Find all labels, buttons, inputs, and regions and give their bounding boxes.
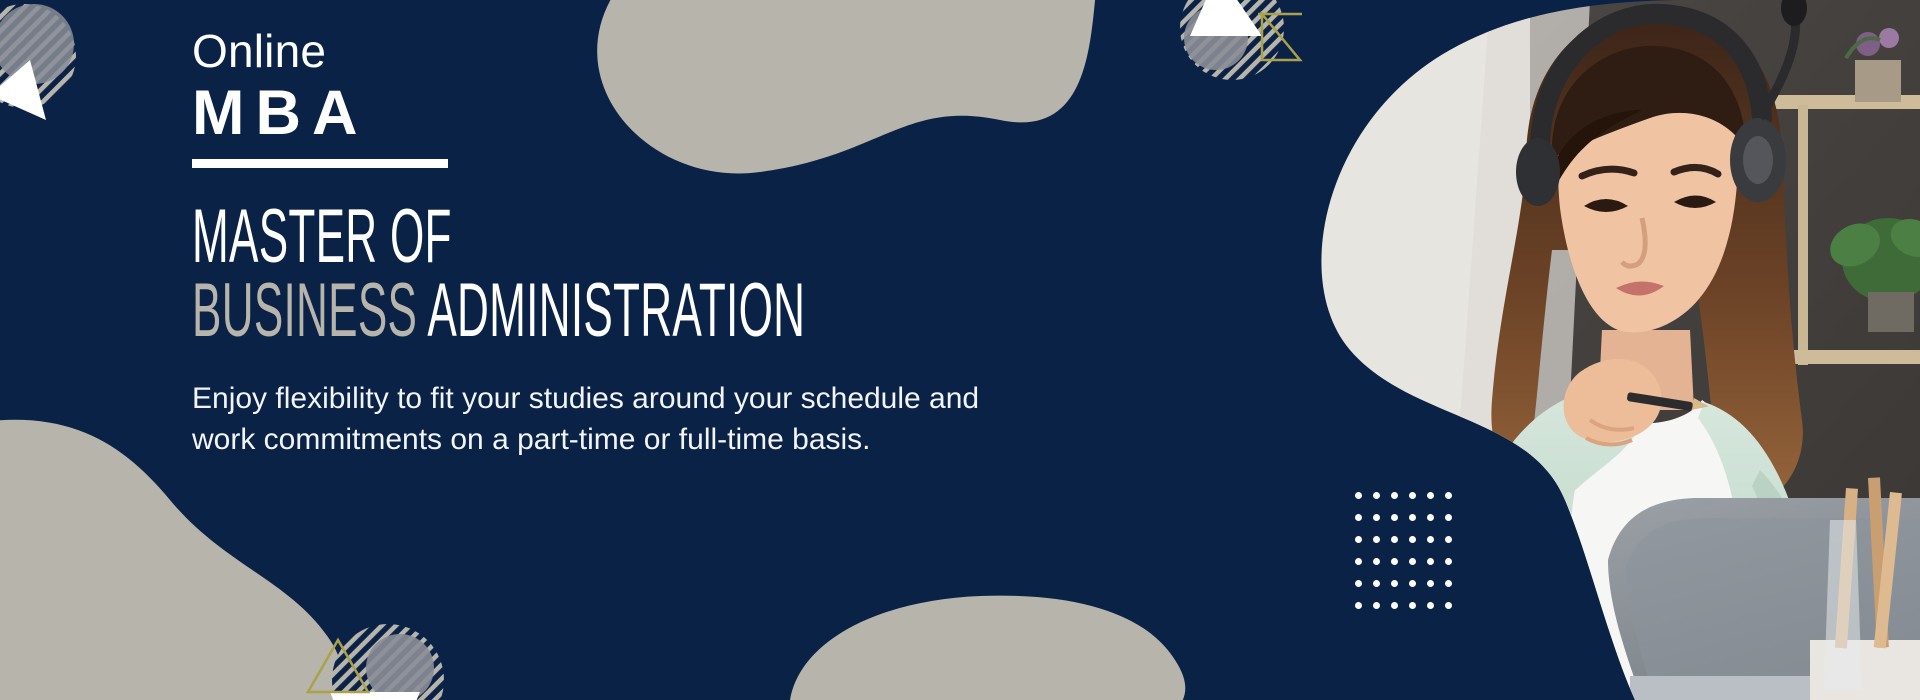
dot — [1427, 580, 1434, 587]
dot — [1427, 536, 1434, 543]
headline-rest-word: ADMINISTRATION — [427, 268, 805, 353]
hatched-circle-top-left — [0, 4, 76, 120]
eyebrow-label: Online — [192, 28, 1202, 74]
program-acronym: MBA — [192, 82, 368, 151]
dot — [1355, 558, 1362, 565]
dot — [1373, 514, 1380, 521]
dot — [1391, 514, 1398, 521]
hatched-circle-bottom-left — [308, 624, 444, 700]
dot — [1409, 492, 1416, 499]
dot — [1391, 492, 1398, 499]
dot — [1445, 558, 1452, 565]
dot — [1445, 602, 1452, 609]
body-copy-line-1: Enjoy flexibility to fit your studies ar… — [192, 379, 1202, 420]
body-copy: Enjoy flexibility to fit your studies ar… — [192, 379, 1202, 461]
dot — [1373, 580, 1380, 587]
dot — [1409, 580, 1416, 587]
dot — [1427, 514, 1434, 521]
title-underline-rule — [192, 159, 448, 168]
dot — [1373, 602, 1380, 609]
dot — [1409, 536, 1416, 543]
dot — [1427, 492, 1434, 499]
dot — [1427, 602, 1434, 609]
dot — [1445, 514, 1452, 521]
olive-triangle-bottom-left — [308, 640, 368, 692]
dot — [1445, 536, 1452, 543]
dot — [1391, 558, 1398, 565]
dot-grid-decoration — [1355, 492, 1463, 624]
dot — [1355, 602, 1362, 609]
headline-line-2: BUSINESS ADMINISTRATION — [192, 274, 778, 348]
dot — [1373, 536, 1380, 543]
gray-blob-bottom-center — [790, 596, 1185, 700]
dot — [1355, 514, 1362, 521]
dot — [1355, 580, 1362, 587]
hero-text-block: Online MBA MASTER OF BUSINESS ADMINISTRA… — [192, 28, 1202, 461]
dot — [1391, 602, 1398, 609]
dot — [1409, 558, 1416, 565]
dot — [1409, 602, 1416, 609]
dot — [1427, 558, 1434, 565]
dot — [1391, 536, 1398, 543]
dot — [1445, 580, 1452, 587]
dot — [1355, 536, 1362, 543]
dot — [1355, 492, 1362, 499]
dot — [1445, 492, 1452, 499]
dot — [1409, 514, 1416, 521]
dot — [1373, 558, 1380, 565]
headline: MASTER OF BUSINESS ADMINISTRATION — [192, 200, 1202, 349]
gray-blob-left-bottom — [0, 420, 343, 700]
body-copy-line-2: work commitments on a part-time or full-… — [192, 420, 1202, 461]
mba-promo-banner: Online MBA MASTER OF BUSINESS ADMINISTRA… — [0, 0, 1920, 700]
headline-line-1: MASTER OF — [192, 200, 778, 274]
dot — [1391, 580, 1398, 587]
dot — [1373, 492, 1380, 499]
headline-accent-word: BUSINESS — [192, 268, 417, 353]
